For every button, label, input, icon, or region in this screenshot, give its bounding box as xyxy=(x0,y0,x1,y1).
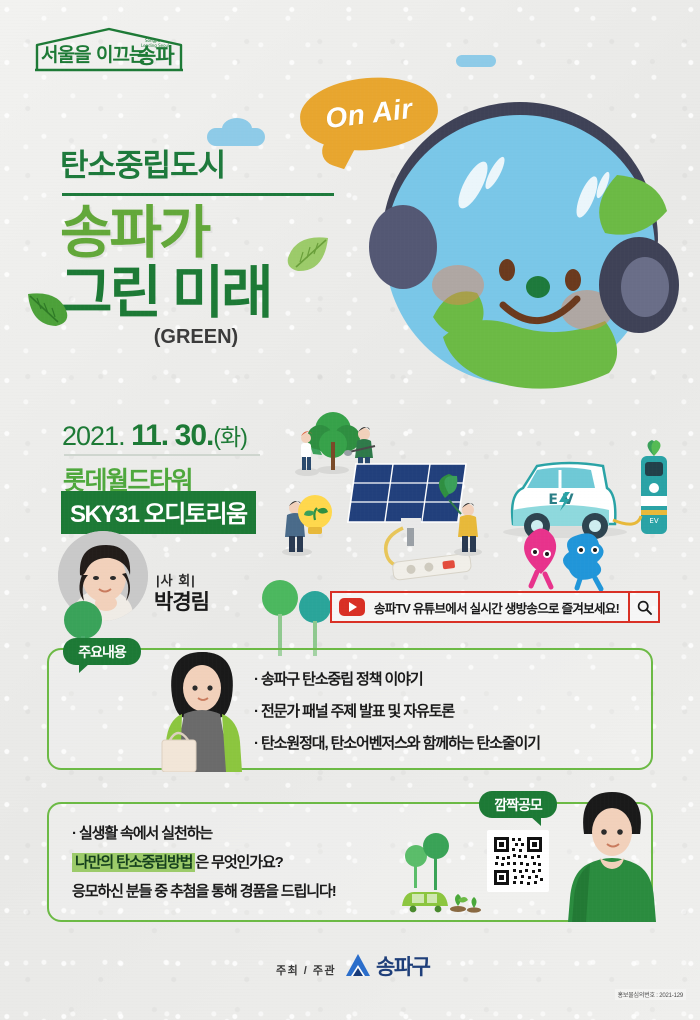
leaf-icon-right xyxy=(284,234,330,279)
main-content-list: 송파구 탄소중립 정책 이야기 전문가 패널 주제 발표 및 자유토론 탄소원정… xyxy=(254,672,654,768)
songpa-brand-logo: 서울을 이끄는 송파 Songpa Leading Seoul xyxy=(33,25,185,72)
contest-text: 실생활 속에서 실천하는 나만의 탄소중립방법은 무엇인가요? 응모하신 분들 … xyxy=(72,826,452,913)
songpa-gu-logo: 송파구 xyxy=(345,951,445,981)
contest-illustration-group xyxy=(398,830,488,922)
poster-kicker: 탄소중립도시 xyxy=(60,148,360,184)
event-date-day: 30. xyxy=(175,419,214,452)
contest-line-1: 실생활 속에서 실천하는 xyxy=(72,826,452,841)
host-name: 박경림 xyxy=(154,586,209,616)
event-date-year: 2021. xyxy=(62,421,125,451)
youtube-live-banner[interactable]: 송파TV 유튜브에서 실시간 생방송으로 즐겨보세요! xyxy=(330,591,660,623)
svg-text:Leading Seoul: Leading Seoul xyxy=(141,43,169,48)
on-air-badge: On Air xyxy=(300,78,438,150)
title-english-label: (GREEN) xyxy=(60,326,332,349)
contest-line-2-rest: 은 무엇인가요? xyxy=(195,854,282,871)
contest-line-3: 응모하신 분들 중 추첨을 통해 경품을 드립니다! xyxy=(72,884,452,899)
list-item: 송파구 탄소중립 정책 이야기 xyxy=(254,672,654,687)
contest-line-2: 나만의 탄소중립방법은 무엇인가요? xyxy=(72,855,452,870)
list-item: 전문가 패널 주제 발표 및 자유토론 xyxy=(254,704,654,719)
event-date: 2021. 11. 30.(화) xyxy=(62,418,247,453)
svg-text:EV: EV xyxy=(649,517,658,525)
footer-host-label: 주최 / 주관 xyxy=(276,962,336,978)
on-air-label: On Air xyxy=(296,70,442,158)
poster-canvas: 서울을 이끄는 송파 Songpa Leading Seoul xyxy=(0,0,700,1020)
youtube-play-icon xyxy=(339,598,365,616)
contest-badge: 깜짝공모 xyxy=(479,791,557,818)
approval-number: 홍보물심의번호 : 2021-129 xyxy=(615,989,686,1000)
svg-text:서울을 이끄는: 서울을 이끄는 xyxy=(41,44,146,66)
title-divider xyxy=(62,193,334,196)
songpa-gu-name: 송파구 xyxy=(376,951,429,981)
green-shirt-man-illustration xyxy=(560,788,665,922)
leaf-icon-left xyxy=(26,288,70,333)
title-block: 탄소중립도시 송파가 그린 미래 (GREEN) xyxy=(60,148,360,349)
search-icon[interactable] xyxy=(628,593,658,621)
venue-hall: SKY31 오디토리움 xyxy=(61,491,256,534)
songpa-mountain-icon xyxy=(345,953,371,979)
cloud-decoration-1b xyxy=(222,118,252,140)
eco-illustration-group: E V EV xyxy=(265,400,690,600)
event-date-month: 11. xyxy=(131,419,168,452)
date-divider xyxy=(64,454,260,456)
contest-highlight: 나만의 탄소중립방법 xyxy=(72,853,195,872)
main-content-badge: 주요내용 xyxy=(63,638,141,665)
qr-code[interactable] xyxy=(487,830,549,892)
youtube-banner-text: 송파TV 유튜브에서 실시간 생방송으로 즐겨보세요! xyxy=(365,598,628,617)
shopping-woman-illustration xyxy=(148,644,258,772)
event-date-weekday: (화) xyxy=(213,424,246,450)
list-item: 탄소원정대, 탄소어벤저스와 함께하는 탄소줄이기 xyxy=(254,736,654,751)
